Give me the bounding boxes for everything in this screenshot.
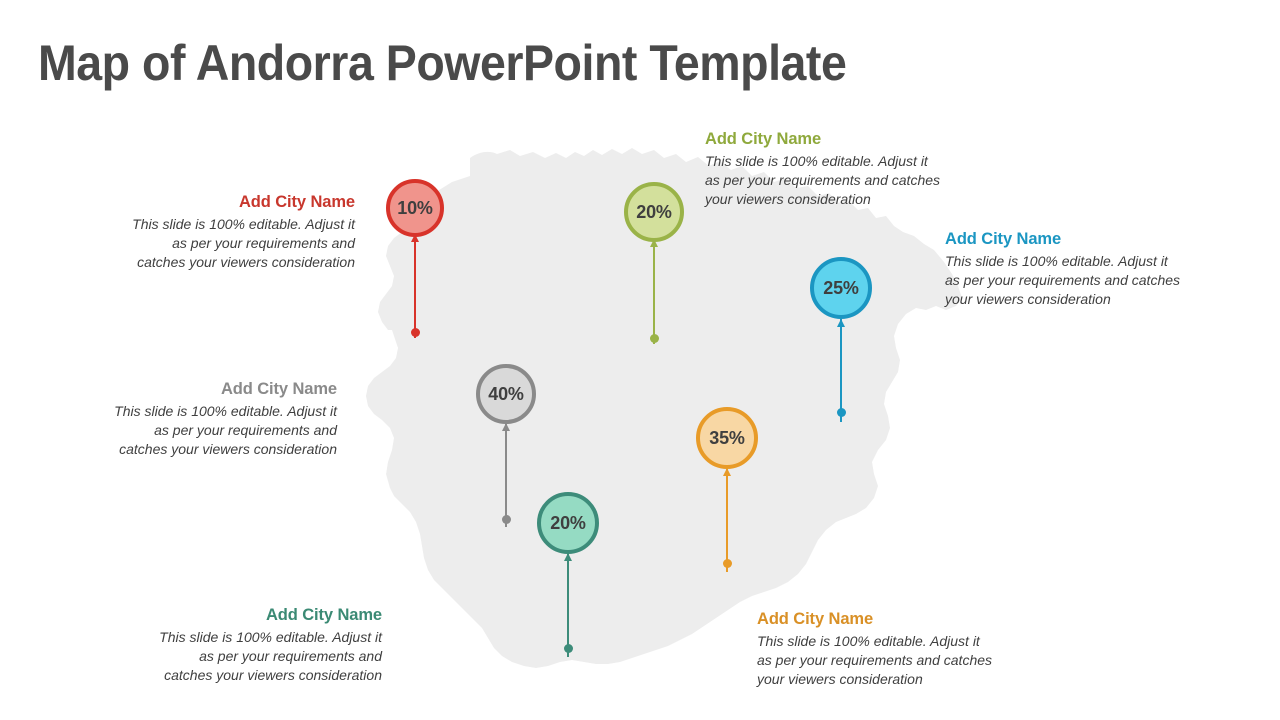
city-block-red: Add City Name This slide is 100% editabl… — [125, 193, 355, 272]
city-body-teal: This slide is 100% editable. Adjust it a… — [150, 628, 382, 685]
marker-bubble-green[interactable]: 20% — [624, 182, 684, 242]
city-block-gray: Add City Name This slide is 100% editabl… — [105, 380, 337, 459]
city-block-orange: Add City Name This slide is 100% editabl… — [757, 610, 997, 689]
city-heading-blue: Add City Name — [945, 230, 1180, 249]
marker-dot-teal — [564, 644, 573, 653]
marker-bubble-gray[interactable]: 40% — [476, 364, 536, 424]
marker-stem-blue — [840, 319, 842, 422]
city-block-blue: Add City Name This slide is 100% editabl… — [945, 230, 1180, 309]
city-body-green: This slide is 100% editable. Adjust it a… — [705, 152, 945, 209]
marker-bubble-blue[interactable]: 25% — [810, 257, 872, 319]
marker-arrow-teal — [564, 553, 572, 561]
city-block-teal: Add City Name This slide is 100% editabl… — [150, 606, 382, 685]
city-block-green: Add City Name This slide is 100% editabl… — [705, 130, 945, 209]
city-body-red: This slide is 100% editable. Adjust it a… — [125, 215, 355, 272]
marker-dot-gray — [502, 515, 511, 524]
marker-arrow-gray — [502, 423, 510, 431]
city-body-blue: This slide is 100% editable. Adjust it a… — [945, 252, 1180, 309]
marker-arrow-blue — [837, 319, 845, 327]
marker-bubble-red[interactable]: 10% — [386, 179, 444, 237]
marker-stem-red — [414, 234, 416, 338]
city-heading-green: Add City Name — [705, 130, 945, 149]
marker-dot-orange — [723, 559, 732, 568]
marker-dot-red — [411, 328, 420, 337]
city-heading-teal: Add City Name — [150, 606, 382, 625]
marker-dot-green — [650, 334, 659, 343]
marker-stem-gray — [505, 423, 507, 527]
marker-stem-green — [653, 239, 655, 344]
slide-canvas: Map of Andorra PowerPoint Template 10% 2… — [0, 0, 1280, 720]
city-body-orange: This slide is 100% editable. Adjust it a… — [757, 632, 997, 689]
marker-dot-blue — [837, 408, 846, 417]
city-body-gray: This slide is 100% editable. Adjust it a… — [105, 402, 337, 459]
marker-bubble-teal[interactable]: 20% — [537, 492, 599, 554]
marker-stem-orange — [726, 468, 728, 572]
city-heading-red: Add City Name — [125, 193, 355, 212]
marker-arrow-orange — [723, 468, 731, 476]
city-heading-gray: Add City Name — [105, 380, 337, 399]
city-heading-orange: Add City Name — [757, 610, 997, 629]
marker-stem-teal — [567, 553, 569, 657]
marker-bubble-orange[interactable]: 35% — [696, 407, 758, 469]
